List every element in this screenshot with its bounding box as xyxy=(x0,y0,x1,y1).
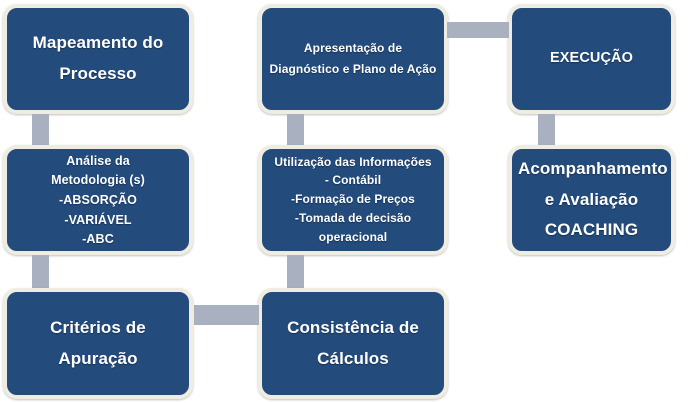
connector-consistencia-to-utilizacao xyxy=(287,255,304,288)
connector-mapeamento-to-analise xyxy=(32,114,49,146)
node-acompanhamento-e-avaliacao[interactable]: Acompanhamento e Avaliação COACHING xyxy=(508,145,675,255)
node-line: Acompanhamento xyxy=(518,157,665,182)
node-line: COACHING xyxy=(518,218,665,243)
node-line: operacional xyxy=(268,229,438,246)
node-line: -Formação de Preços xyxy=(268,191,438,208)
process-flow-diagram: Mapeamento do Processo Análise da Metodo… xyxy=(0,0,700,403)
node-consistencia-de-calculos[interactable]: Consistência de Cálculos xyxy=(258,288,448,399)
node-line: -ABSORÇÃO xyxy=(13,191,183,209)
node-line: Mapeamento do xyxy=(13,31,183,56)
node-analise-da-metodologia[interactable]: Análise da Metodologia (s) -ABSORÇÃO -VA… xyxy=(3,145,193,255)
node-utilizacao-das-informacoes[interactable]: Utilização das Informações - Contábil -F… xyxy=(258,145,448,255)
node-line: -ABC xyxy=(13,230,183,248)
node-line: e Avaliação xyxy=(518,188,665,213)
connector-utilizacao-to-apresentacao xyxy=(287,114,304,146)
connector-analise-to-criterios xyxy=(32,255,49,288)
node-execucao[interactable]: EXECUÇÃO xyxy=(508,4,675,114)
node-line: Processo xyxy=(13,62,183,87)
node-line: Consistência de xyxy=(268,316,438,341)
node-apresentacao-de-diagnostico[interactable]: Apresentação de Diagnóstico e Plano de A… xyxy=(258,4,448,114)
node-line: Cálculos xyxy=(268,347,438,372)
node-line: Diagnóstico e Plano de Ação xyxy=(268,61,438,78)
node-line: EXECUÇÃO xyxy=(518,48,665,69)
connector-criterios-to-consistencia xyxy=(194,305,259,325)
connector-execucao-to-acompanhamento xyxy=(538,114,555,146)
node-line: Apuração xyxy=(13,347,183,372)
node-line: -Tomada de decisão xyxy=(268,210,438,227)
node-line: -VARIÁVEL xyxy=(13,211,183,229)
node-criterios-de-apuracao[interactable]: Critérios de Apuração xyxy=(3,288,193,399)
node-line: Apresentação de xyxy=(268,40,438,57)
node-line: Utilização das Informações xyxy=(268,154,438,171)
node-mapeamento-do-processo[interactable]: Mapeamento do Processo xyxy=(3,4,193,114)
connector-apresentacao-to-execucao xyxy=(447,22,509,38)
node-line: Análise da xyxy=(13,152,183,170)
node-line: - Contábil xyxy=(268,172,438,189)
node-line: Critérios de xyxy=(13,316,183,341)
node-line: Metodologia (s) xyxy=(13,171,183,189)
